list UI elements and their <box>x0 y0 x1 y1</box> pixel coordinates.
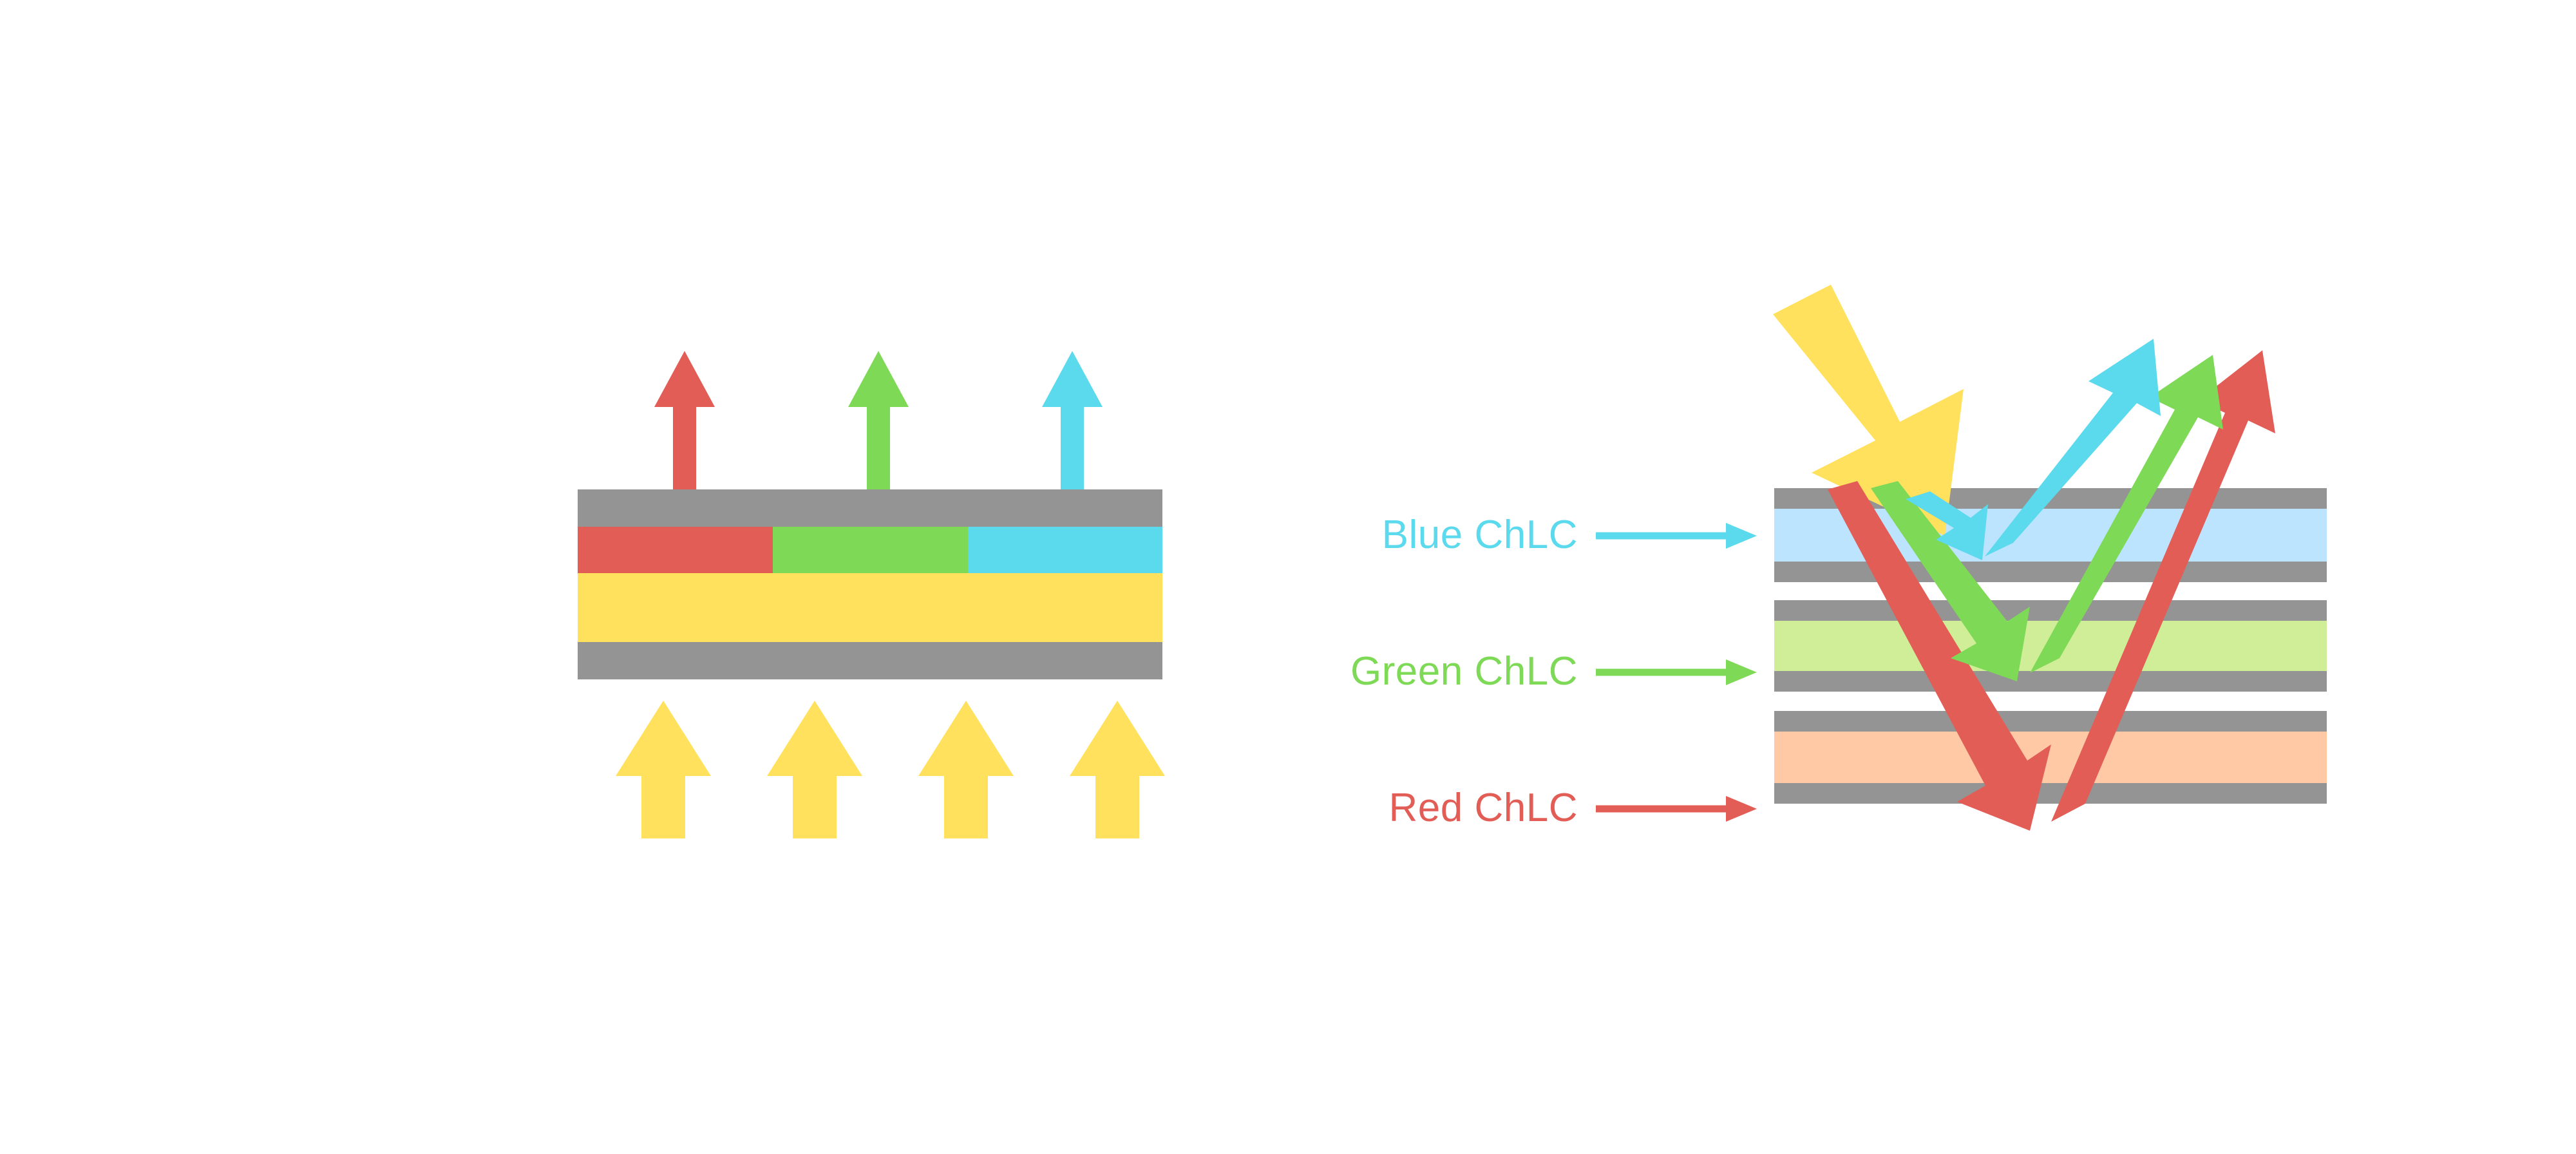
green-emission-arrow <box>848 351 909 489</box>
green-filter-segment <box>773 527 968 573</box>
red-emission-arrow <box>654 351 715 489</box>
red-top-electrode <box>1774 711 2327 732</box>
yellow-backlight-layer <box>578 573 1162 642</box>
right-panel: Blue ChLC Green ChLC Red ChLC <box>1350 285 2327 831</box>
chlc-labels: Blue ChLC Green ChLC Red ChLC <box>1350 513 1757 830</box>
cyan-emission-arrow <box>1042 351 1103 489</box>
red-label-pointer-arrow <box>1596 796 1757 822</box>
emitted-light-arrows <box>654 351 1103 489</box>
red-chlc-layer <box>1774 732 2327 783</box>
gap-2 <box>1774 692 2327 711</box>
blue-label-pointer-arrow <box>1596 523 1757 549</box>
blue-filter-segment <box>968 527 1162 573</box>
backlight-arrow-4 <box>1070 701 1165 838</box>
backlight-arrow-2 <box>767 701 862 838</box>
left-panel <box>578 351 1165 838</box>
backlight-arrow-1 <box>616 701 711 838</box>
top-electrode-layer <box>578 489 1162 527</box>
chlc-display-diagram: Blue ChLC Green ChLC Red ChLC <box>0 0 2576 1154</box>
left-stack <box>578 489 1162 679</box>
backlight-arrow-3 <box>918 701 1014 838</box>
red-bottom-electrode <box>1774 783 2327 804</box>
blue-chlc-label: Blue ChLC <box>1382 513 1578 557</box>
bottom-electrode-layer <box>578 642 1162 679</box>
green-bottom-electrode <box>1774 671 2327 692</box>
green-chlc-label: Green ChLC <box>1350 649 1578 694</box>
blue-bottom-electrode <box>1774 562 2327 582</box>
diagram-canvas: Blue ChLC Green ChLC Red ChLC <box>0 0 2576 1154</box>
green-top-electrode <box>1774 600 2327 621</box>
red-chlc-label: Red ChLC <box>1389 786 1578 830</box>
color-filter-layer <box>578 527 1162 573</box>
backlight-arrows <box>616 701 1165 838</box>
green-label-pointer-arrow <box>1596 659 1757 685</box>
gap-1 <box>1774 582 2327 600</box>
red-filter-segment <box>578 527 773 573</box>
